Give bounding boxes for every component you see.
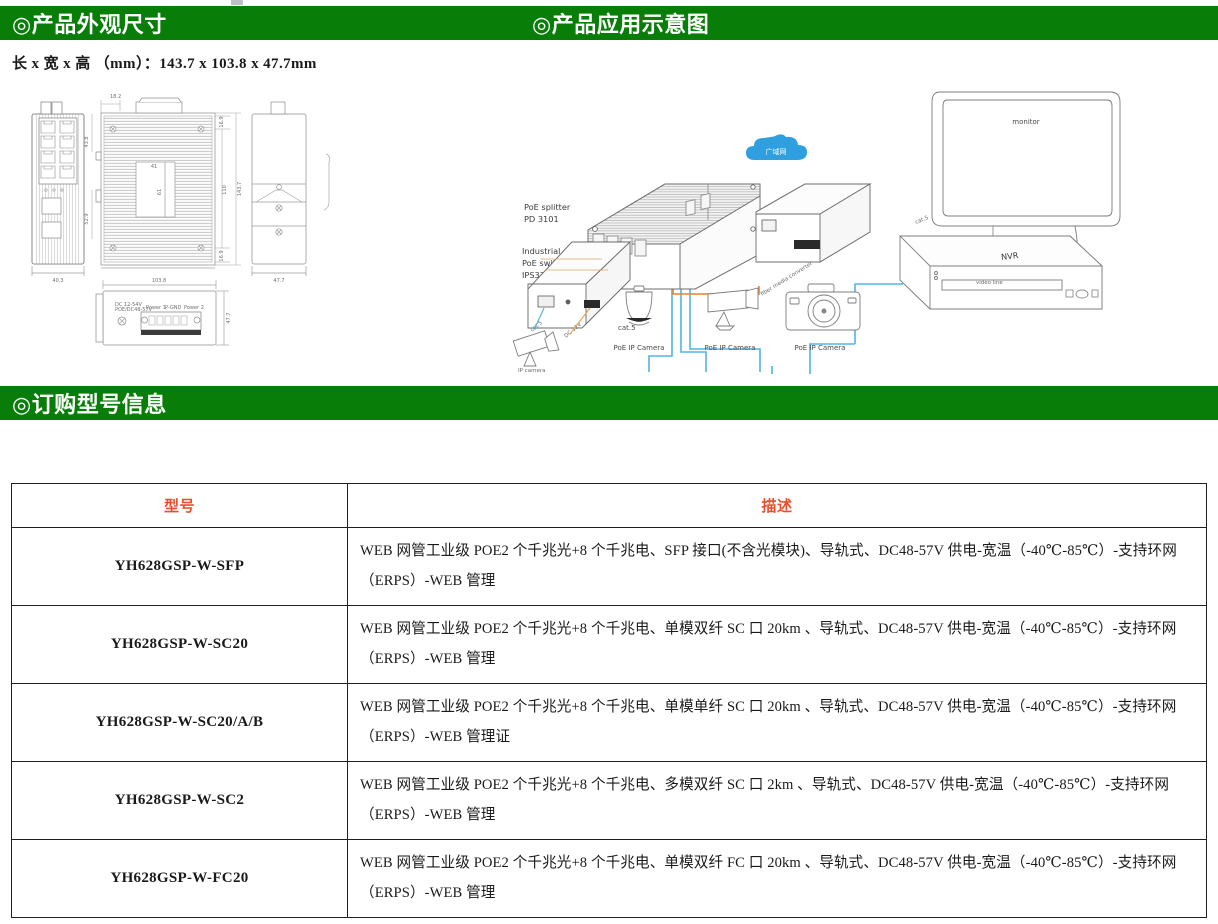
table-row: YH628GSP-W-SFP WEB 网管工业级 POE2 个千兆光+8 个千兆…	[12, 528, 1207, 606]
dim-overall-height: 143.7	[237, 182, 243, 196]
dim-corner-bottom: 16.9	[219, 250, 225, 261]
model-value: YH628GSP-W-FC20	[12, 840, 348, 918]
model-value: YH628GSP-W-SC20	[12, 606, 348, 684]
section-title-topology: ◎产品应用示意图	[519, 7, 709, 39]
description-value: WEB 网管工业级 POE2 个千兆光+8 个千兆电、SFP 接口(不含光模块)…	[348, 528, 1207, 606]
label-terminal-1: Power 1	[146, 305, 166, 311]
section-title-order: ◎订购型号信息	[0, 387, 167, 419]
mechanical-drawing-group: 40.3	[8, 84, 508, 364]
dim-corner-top: 16.9	[219, 116, 225, 127]
description-value: WEB 网管工业级 POE2 个千兆光+8 个千兆电、多模双纤 SC 口 2km…	[348, 762, 1207, 840]
section-title-appearance: ◎产品外观尺寸	[0, 7, 167, 39]
model-value: YH628GSP-W-SC20/A/B	[12, 684, 348, 762]
model-value: YH628GSP-W-SFP	[12, 528, 348, 606]
dslr-camera-icon	[786, 284, 860, 330]
wan-cloud-icon: 广域网	[746, 134, 807, 160]
poe-camera-label-2: PoE IP Camera	[705, 344, 756, 352]
drawing-front-view	[32, 102, 84, 276]
drawing-side-view	[252, 102, 330, 276]
media-converter-graphic	[756, 184, 870, 262]
column-header-description: 描述	[348, 484, 1207, 528]
cat5-label-right: cat.5	[915, 215, 931, 226]
table-row: YH628GSP-W-SC20/A/B WEB 网管工业级 POE2 个千兆光+…	[12, 684, 1207, 762]
monitor-label: monitor	[1012, 118, 1040, 126]
nvr-label: NVR	[1001, 250, 1020, 262]
table-row: YH628GSP-W-SC20 WEB 网管工业级 POE2 个千兆光+8 个千…	[12, 606, 1207, 684]
description-value: WEB 网管工业级 POE2 个千兆光+8 个千兆电、单模双纤 SC 口 20k…	[348, 606, 1207, 684]
dim-inner-width: 41	[151, 164, 157, 170]
cloud-label: 广域网	[766, 147, 787, 156]
splitter-label-line1: PoE splitter	[524, 202, 571, 212]
dim-side-width: 47.7	[273, 278, 284, 284]
product-datasheet-page: ◎产品外观尺寸 ◎产品应用示意图 长 x 宽 x 高 （mm）：143.7 x …	[0, 0, 1218, 924]
label-terminal-2: P-GND	[165, 305, 182, 311]
ip-camera-graphic	[513, 331, 559, 366]
dim-inner-height: 61	[157, 189, 163, 195]
dome-camera-icon	[626, 286, 652, 325]
table-header-row: 型号 描述	[12, 484, 1207, 528]
nvr-graphic	[900, 236, 1102, 309]
dim-bottom-height: 47.7	[226, 312, 232, 323]
model-value: YH628GSP-W-SC2	[12, 762, 348, 840]
video-line-label: video line	[976, 280, 1003, 286]
table-row: YH628GSP-W-FC20 WEB 网管工业级 POE2 个千兆光+8 个千…	[12, 840, 1207, 918]
page-artifact	[231, 0, 243, 5]
dim-front-width: 40.3	[52, 278, 63, 284]
dim-inner-total: 110	[222, 185, 228, 195]
ip-camera-label: IP camera	[518, 368, 545, 374]
order-model-table: 型号 描述 YH628GSP-W-SFP WEB 网管工业级 POE2 个千兆光…	[11, 483, 1207, 918]
bullet-camera-icon	[708, 288, 758, 330]
splitter-label-line2: PD 3101	[524, 214, 559, 224]
switch-label-line1: Industrial	[522, 246, 560, 256]
table-row: YH628GSP-W-SC2 WEB 网管工业级 POE2 个千兆光+8 个千兆…	[12, 762, 1207, 840]
description-value: WEB 网管工业级 POE2 个千兆光+8 个千兆电、单模单纤 SC 口 20k…	[348, 684, 1207, 762]
dim-lower-left-vertical: 52.9	[84, 213, 90, 224]
column-header-model: 型号	[12, 484, 348, 528]
dim-top-left-vertical: 43.8	[84, 136, 90, 147]
section-header-topology: ◎产品应用示意图	[519, 6, 1218, 40]
section-header-order: ◎订购型号信息	[0, 386, 1218, 420]
dimension-caption: 长 x 宽 x 高 （mm）：143.7 x 103.8 x 47.7mm	[12, 52, 317, 73]
poe-camera-label-1: PoE IP Camera	[614, 344, 665, 352]
poe-camera-label-3: PoE IP Camera	[795, 344, 846, 352]
label-terminal-3: Power 2	[184, 305, 204, 311]
description-value: WEB 网管工业级 POE2 个千兆光+8 个千兆电、单模双纤 FC 口 20k…	[348, 840, 1207, 918]
poe-camera-row: PoE IP Camera PoE IP Camera PoE IP Camer…	[612, 278, 912, 370]
dim-bottom-width: 103.8	[152, 278, 166, 284]
dim-top-offset: 18.2	[110, 94, 121, 100]
